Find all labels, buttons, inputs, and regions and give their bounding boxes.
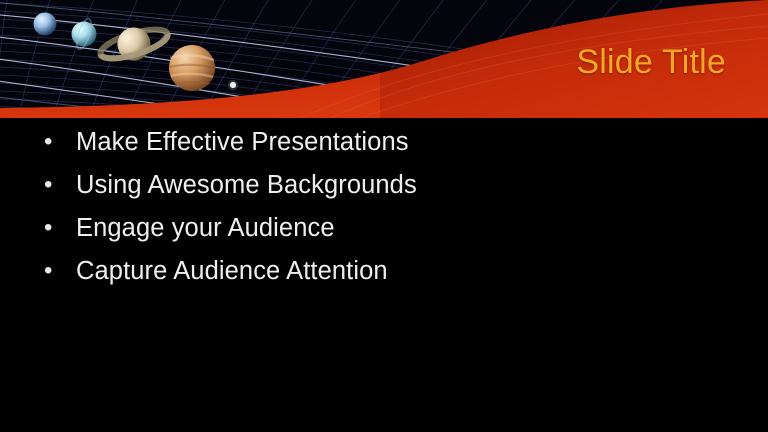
list-item[interactable]: • Using Awesome Backgrounds: [40, 167, 730, 210]
bullet-point-icon: •: [40, 167, 76, 203]
bullet-text: Capture Audience Attention: [76, 253, 730, 289]
bullet-text: Engage your Audience: [76, 210, 730, 246]
slide-title[interactable]: Slide Title: [576, 42, 726, 82]
bullet-point-icon: •: [40, 210, 76, 246]
jupiter-planet: [169, 45, 215, 91]
neptune-planet: [34, 13, 57, 36]
list-item[interactable]: • Engage your Audience: [40, 210, 730, 253]
bullet-text: Using Awesome Backgrounds: [76, 167, 730, 203]
presentation-slide: Slide Title • Make Effective Presentatio…: [0, 0, 768, 432]
bullet-point-icon: •: [40, 124, 76, 160]
bullet-point-icon: •: [40, 253, 76, 289]
small-body-dot: [228, 80, 238, 90]
slide-body-list: • Make Effective Presentations • Using A…: [40, 124, 730, 296]
list-item[interactable]: • Capture Audience Attention: [40, 253, 730, 296]
list-item[interactable]: • Make Effective Presentations: [40, 124, 730, 167]
bullet-text: Make Effective Presentations: [76, 124, 730, 160]
